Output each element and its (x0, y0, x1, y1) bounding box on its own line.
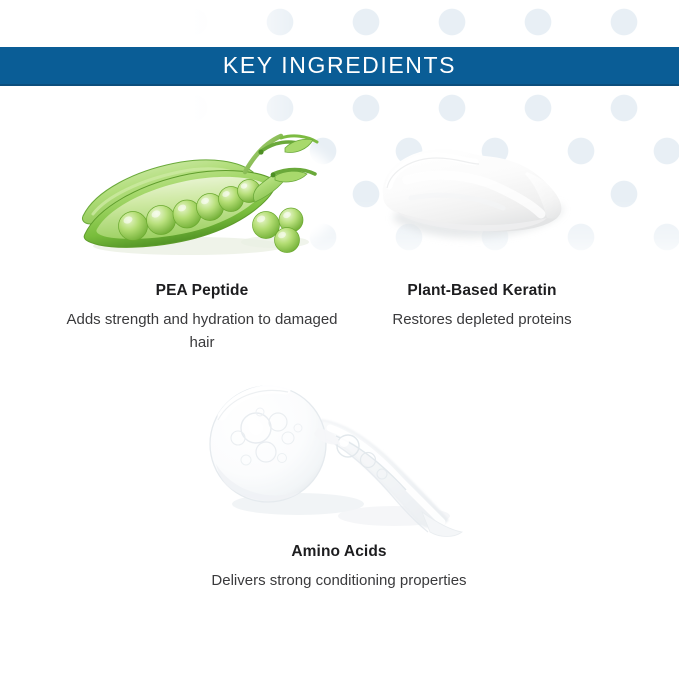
ingredient-name: Amino Acids (139, 543, 539, 562)
header-banner: KEY INGREDIENTS (0, 47, 679, 86)
ingredient-name: PEA Peptide (52, 282, 352, 301)
page-title: KEY INGREDIENTS (223, 54, 456, 77)
pea-pod-figure (52, 128, 352, 263)
pea-pod-photo (77, 128, 327, 263)
ingredient-description: Delivers strong conditioning properties (139, 569, 539, 592)
ingredient-card-pea-peptide: PEA Peptide Adds strength and hydration … (52, 128, 352, 354)
cream-swatch-figure (332, 128, 632, 263)
white-cream-swatch-photo (367, 128, 597, 263)
ingredient-card-plant-based-keratin: Plant-Based Keratin Restores depleted pr… (332, 128, 632, 331)
clear-gel-drop-photo (194, 376, 484, 541)
ingredient-description: Adds strength and hydration to damaged h… (52, 308, 352, 355)
gel-drop-figure (139, 378, 539, 523)
ingredient-card-amino-acids: Amino Acids Delivers strong conditioning… (139, 378, 539, 592)
key-ingredients-infographic: KEY INGREDIENTS (0, 0, 679, 679)
ingredient-name: Plant-Based Keratin (332, 282, 632, 301)
ingredient-description: Restores depleted proteins (332, 308, 632, 331)
